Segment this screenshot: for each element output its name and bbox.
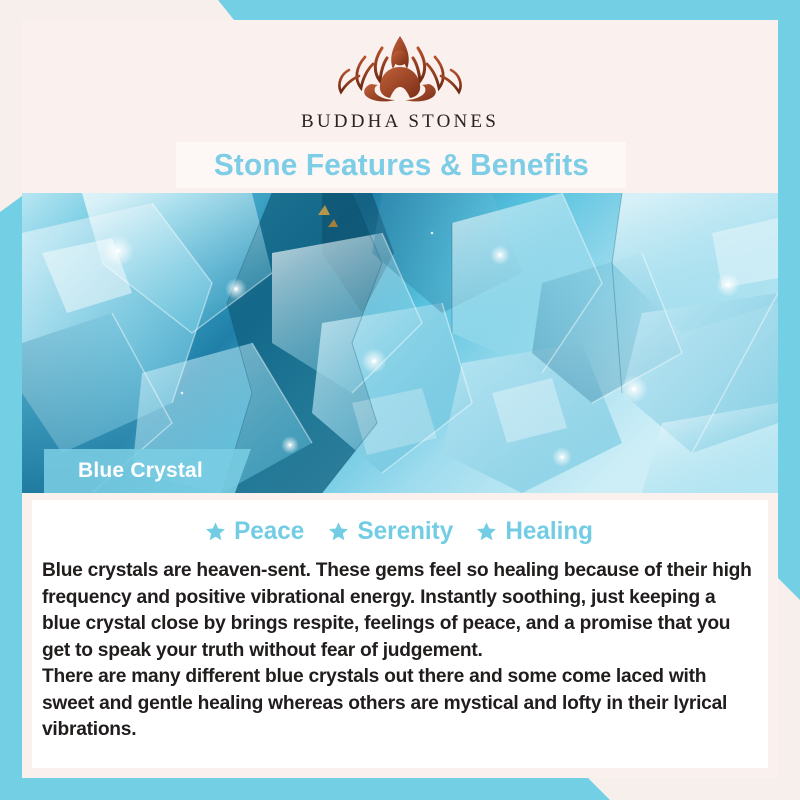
blue-crystal-cluster-photo (22, 193, 778, 493)
frame-band-bottom (0, 778, 800, 800)
body-copy: Blue crystals are heaven-sent. These gem… (38, 558, 762, 744)
content-card: Peace Serenity Healing Blue crystals are… (32, 500, 768, 768)
feature-item: Serenity (328, 517, 455, 546)
brand-wordmark: BUDDHA STONES (301, 111, 499, 133)
feature-item: Healing (476, 517, 594, 546)
feature-list: Peace Serenity Healing (32, 510, 768, 552)
feature-item: Peace (205, 517, 305, 546)
brand-header: BUDDHA STONES (22, 20, 778, 140)
frame-band-left (0, 196, 22, 800)
title-plaque: Stone Features & Benefits (176, 142, 626, 188)
body-paragraph-2: There are many different blue crystals o… (42, 664, 758, 744)
feature-label: Peace (234, 517, 304, 546)
star-icon (328, 521, 349, 542)
frame-band-right (778, 0, 800, 600)
body-paragraph-1: Blue crystals are heaven-sent. These gem… (42, 558, 758, 664)
frame-band-top (0, 0, 800, 20)
star-icon (205, 521, 226, 542)
poster-canvas: BUDDHA STONES Stone Features & Benefits (0, 0, 800, 800)
lotus-meditation-figure-icon (325, 26, 475, 108)
hero-label: Blue Crystal (44, 449, 251, 493)
hero-image: Blue Crystal (22, 193, 778, 493)
feature-label: Serenity (357, 517, 453, 546)
hero-label-text: Blue Crystal (78, 459, 203, 483)
page-title: Stone Features & Benefits (213, 147, 588, 183)
star-icon (476, 521, 497, 542)
feature-label: Healing (506, 517, 594, 546)
